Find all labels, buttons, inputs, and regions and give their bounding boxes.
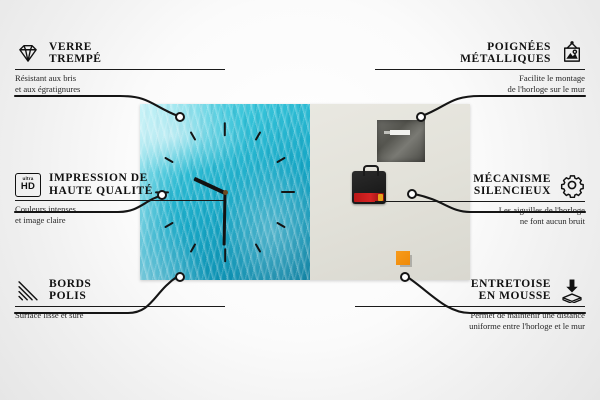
connector-impression bbox=[15, 195, 163, 212]
connector-lines bbox=[0, 0, 600, 400]
endpoint-impression bbox=[158, 191, 166, 199]
endpoint-poignees bbox=[417, 113, 425, 121]
endpoint-verre-trempe bbox=[176, 113, 184, 121]
infographic-canvas: VERRE TREMPÉ Résistant aux bris et aux é… bbox=[0, 0, 600, 400]
connector-entretoise bbox=[406, 276, 585, 313]
endpoint-entretoise bbox=[401, 273, 409, 281]
connector-verre-trempe bbox=[15, 96, 178, 116]
connector-poignees bbox=[422, 96, 585, 116]
endpoint-bords-polis bbox=[176, 273, 184, 281]
connector-bords-polis bbox=[15, 276, 178, 313]
endpoint-mecanisme bbox=[408, 190, 416, 198]
connector-mecanisme bbox=[414, 194, 585, 212]
